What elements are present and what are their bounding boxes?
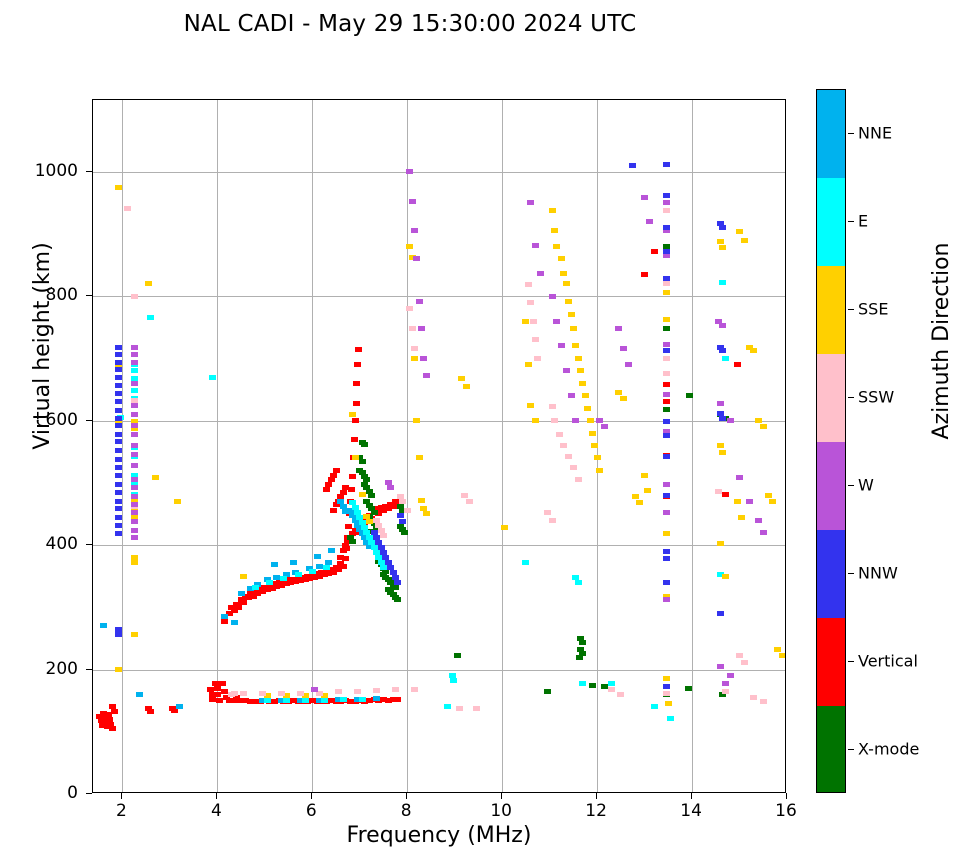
x-tick-label: 8 [376,801,436,821]
data-point [355,347,362,352]
data-point [719,450,726,455]
data-point [399,519,406,524]
data-point [686,393,693,398]
data-point [527,403,534,408]
data-point [380,533,387,538]
data-point [404,508,411,513]
data-point [413,256,420,261]
data-point [663,510,670,515]
x-axis-label: Frequency (MHz) [92,823,786,848]
data-point [576,655,583,660]
data-layer [93,100,785,792]
data-point [264,698,271,703]
data-point [115,448,122,453]
colorbar-segment-vertical [817,618,845,706]
data-point [394,580,401,585]
data-point [663,342,670,347]
data-point [115,423,122,428]
data-point [131,368,138,373]
data-point [394,597,401,602]
data-point [411,346,418,351]
data-point [722,356,729,361]
data-point [532,418,539,423]
data-point [456,706,463,711]
data-point [663,549,670,554]
data-point [760,530,767,535]
data-point [544,689,551,694]
data-point [115,408,122,413]
data-point [663,407,670,412]
data-point [314,554,321,559]
data-point [353,401,360,406]
data-point [719,348,726,353]
colorbar-tick-mark [848,573,854,574]
data-point [131,360,138,365]
colorbar-tick-mark [848,397,854,398]
data-point [152,475,159,480]
data-point [238,591,245,596]
data-point [115,523,122,528]
data-point [719,225,726,230]
data-point [736,229,743,234]
data-point [420,356,427,361]
data-point [667,716,674,721]
data-point [575,580,582,585]
data-point [734,499,741,504]
data-point [240,574,247,579]
data-point [558,256,565,261]
data-point [115,375,122,380]
data-point [746,499,753,504]
data-point [644,488,651,493]
data-point [131,423,138,428]
data-point [340,697,347,702]
data-point [719,280,726,285]
data-point [565,299,572,304]
data-point [136,692,143,697]
data-point [328,477,335,482]
data-point [587,418,594,423]
x-tick-label: 14 [661,801,721,821]
data-point [663,597,670,602]
data-point [131,560,138,565]
data-point [115,515,122,520]
data-point [406,244,413,249]
data-point [335,689,342,694]
data-point [221,689,228,694]
data-point [582,393,589,398]
x-tick-mark [596,793,597,799]
x-tick-mark [311,793,312,799]
data-point [115,416,122,421]
data-point [321,698,328,703]
y-tick-mark [86,171,92,172]
data-point [115,632,122,637]
plot-area [92,99,786,793]
data-point [769,499,776,504]
data-point [131,632,138,637]
data-point [579,681,586,686]
data-point [214,686,221,691]
data-point [115,531,122,536]
data-point [131,294,138,299]
data-point [131,510,138,515]
data-point [131,432,138,437]
data-point [572,418,579,423]
data-point [736,475,743,480]
colorbar-tick-mark [848,661,854,662]
data-point [333,468,340,473]
x-tick-label: 2 [91,801,151,821]
data-point [663,482,670,487]
colorbar-segment-w [817,442,845,530]
data-point [416,299,423,304]
data-point [423,373,430,378]
data-point [579,640,586,645]
data-point [131,494,138,499]
data-point [563,368,570,373]
x-tick-mark [216,793,217,799]
data-point [560,271,567,276]
data-point [663,392,670,397]
data-point [551,418,558,423]
data-point [651,704,658,709]
data-point [401,530,408,535]
data-point [722,574,729,579]
data-point [760,424,767,429]
data-point [663,691,670,696]
data-point [115,352,122,357]
colorbar-tick-label-ssw: SSW [858,388,894,407]
data-point [549,294,556,299]
colorbar-segment-x-mode [817,706,845,793]
data-point [774,647,781,652]
data-point [115,391,122,396]
data-point [522,560,529,565]
data-point [663,281,670,286]
data-point [115,360,122,365]
data-point [325,482,332,487]
colorbar-tick-label-sse: SSE [858,300,888,319]
data-point [719,245,726,250]
data-point [231,620,238,625]
data-point [209,375,216,380]
data-point [461,493,468,498]
data-point [553,244,560,249]
data-point [240,691,247,696]
data-point [131,535,138,540]
colorbar-segment-e [817,178,845,266]
data-point [466,499,473,504]
data-point [625,362,632,367]
data-point [394,697,401,702]
data-point [131,463,138,468]
data-point [418,498,425,503]
data-point [323,565,330,570]
data-point [738,515,745,520]
x-tick-mark [501,793,502,799]
data-point [278,691,285,696]
y-tick-mark [86,420,92,421]
data-point [663,580,670,585]
data-point [373,696,380,701]
data-point [722,681,729,686]
data-point [266,580,273,585]
data-point [617,692,624,697]
data-point [411,687,418,692]
y-tick-mark [86,544,92,545]
data-point [549,518,556,523]
x-tick-mark [691,793,692,799]
data-point [290,560,297,565]
x-tick-label: 10 [471,801,531,821]
data-point [131,412,138,417]
data-point [454,653,461,658]
data-point [636,500,643,505]
data-point [444,704,451,709]
data-point [380,565,387,570]
data-point [309,569,316,574]
data-point [663,348,670,353]
data-point [563,281,570,286]
data-point [646,219,653,224]
data-point [115,345,122,350]
data-point [591,443,598,448]
data-point [349,539,356,544]
data-point [532,243,539,248]
data-point [131,519,138,524]
data-point [111,709,118,714]
data-point [629,163,636,168]
colorbar-tick-mark [848,485,854,486]
data-point [283,698,290,703]
data-point [131,477,138,482]
data-point [663,556,670,561]
data-point [409,199,416,204]
data-point [214,692,221,697]
data-point [323,487,330,492]
data-point [589,431,596,436]
data-point [115,439,122,444]
y-tick-mark [86,669,92,670]
x-tick-mark [786,793,787,799]
data-point [349,412,356,417]
data-point [124,206,131,211]
colorbar-tick-label-w: W [858,476,874,495]
data-point [717,401,724,406]
data-point [352,418,359,423]
data-point [342,485,349,490]
page-title: NAL CADI - May 29 15:30:00 2024 UTC [0,11,820,37]
colorbar-segment-sse [817,266,845,354]
data-point [473,706,480,711]
data-point [570,326,577,331]
data-point [413,418,420,423]
data-point [131,485,138,490]
data-point [615,326,622,331]
data-point [387,485,394,490]
x-tick-mark [406,793,407,799]
data-point [271,562,278,567]
data-point [663,225,670,230]
data-point [663,290,670,295]
data-point [316,564,323,569]
data-point [131,528,138,533]
data-point [717,443,724,448]
data-point [463,384,470,389]
y-tick-mark [86,793,92,794]
data-point [663,419,670,424]
data-point [359,459,366,464]
data-point [722,689,729,694]
data-point [570,465,577,470]
data-point [560,443,567,448]
data-point [337,555,344,560]
data-point [342,509,349,514]
data-point [741,660,748,665]
data-point [392,687,399,692]
data-point [755,518,762,523]
data-point [297,691,304,696]
ionogram-figure: NAL CADI - May 29 15:30:00 2024 UTC 2468… [0,0,958,857]
data-point [750,695,757,700]
data-point [115,667,122,672]
data-point [354,689,361,694]
colorbar-tick-label-nnw: NNW [858,564,898,583]
data-point [501,525,508,530]
data-point [556,432,563,437]
data-point [131,452,138,457]
x-tick-label: 4 [186,801,246,821]
data-point [115,383,122,388]
data-point [553,319,560,324]
data-point [632,494,639,499]
data-point [131,388,138,393]
data-point [717,239,724,244]
colorbar-segment-nne [817,90,845,178]
data-point [663,493,670,498]
data-point [568,393,575,398]
data-point [147,709,154,714]
data-point [663,162,670,167]
data-point [240,600,247,605]
data-point [534,356,541,361]
data-point [115,185,122,190]
data-point [760,699,767,704]
data-point [596,468,603,473]
data-point [115,490,122,495]
data-point [115,457,122,462]
data-point [734,362,741,367]
data-point [527,300,534,305]
colorbar [816,89,846,793]
data-point [397,513,404,518]
data-point [373,688,380,693]
data-point [328,548,335,553]
data-point [755,418,762,423]
data-point [544,510,551,515]
colorbar-tick-mark [848,133,854,134]
data-point [409,326,416,331]
data-point [596,418,603,423]
data-point [584,406,591,411]
data-point [352,455,359,460]
colorbar-tick-mark [848,749,854,750]
data-point [568,312,575,317]
data-point [651,249,658,254]
data-point [406,306,413,311]
data-point [340,564,347,569]
data-point [565,454,572,459]
data-point [311,687,318,692]
colorbar-tick-label-x-mode: X-mode [858,740,919,759]
y-axis-label: Virtual height (km) [30,46,55,646]
data-point [601,684,608,689]
data-point [575,356,582,361]
data-point [663,382,670,387]
data-point [525,282,532,287]
y-tick-mark [86,295,92,296]
data-point [295,572,302,577]
data-point [589,683,596,688]
data-point [176,704,183,709]
data-point [115,432,122,437]
data-point [663,193,670,198]
data-point [663,317,670,322]
data-point [663,684,670,689]
data-point [663,531,670,536]
data-point [280,576,287,581]
data-point [115,499,122,504]
data-point [750,348,757,353]
data-point [579,381,586,386]
data-point [663,249,670,254]
x-tick-label: 6 [281,801,341,821]
data-point [663,371,670,376]
data-point [715,489,722,494]
data-point [115,367,122,372]
data-point [663,208,670,213]
data-point [663,356,670,361]
data-point [354,362,361,367]
colorbar-tick-mark [848,309,854,310]
data-point [663,276,670,281]
y-tick-label: 0 [8,783,78,803]
colorbar-segment-ssw [817,354,845,442]
data-point [221,619,228,624]
data-point [423,511,430,516]
data-point [641,473,648,478]
data-point [575,477,582,482]
data-point [109,726,116,731]
data-point [349,474,356,479]
x-tick-label: 12 [566,801,626,821]
data-point [532,337,539,342]
colorbar-tick-label-vertical: Vertical [858,652,918,671]
x-tick-mark [121,793,122,799]
data-point [353,381,360,386]
data-point [765,493,772,498]
data-point [601,424,608,429]
data-point [663,433,670,438]
data-point [530,319,537,324]
data-point [115,465,122,470]
data-point [779,653,786,658]
data-point [351,437,358,442]
data-point [717,611,724,616]
data-point [252,585,259,590]
data-point [115,399,122,404]
